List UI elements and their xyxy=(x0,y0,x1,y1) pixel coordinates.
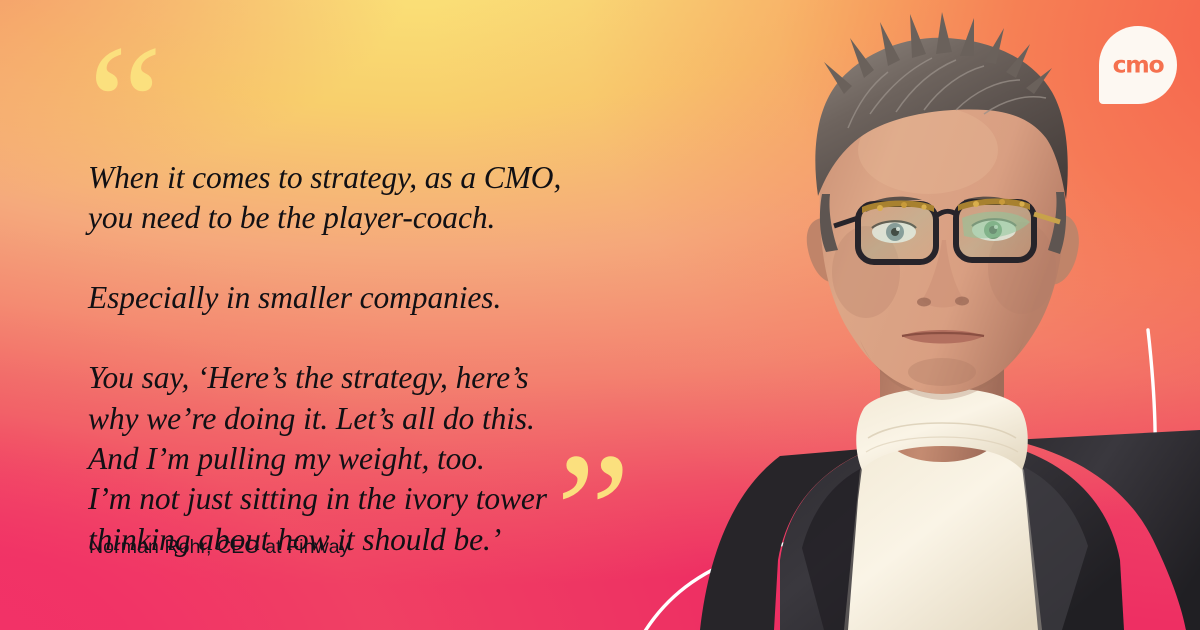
turtleneck-body xyxy=(844,438,1042,630)
chin-shadow xyxy=(908,358,976,386)
attribution: Norman Rohr, CEO at Finway xyxy=(89,536,350,559)
quote-paragraph-2: Especially in smaller companies. xyxy=(88,278,688,318)
opening-quote-mark: “ xyxy=(88,44,688,130)
cmo-logo[interactable]: cmo xyxy=(1099,26,1177,104)
logo-wordmark: cmo xyxy=(1099,50,1177,78)
quote-card: cmo “ When it comes to strategy, as a CM… xyxy=(0,0,1200,630)
closing-quote-mark: ” xyxy=(556,452,629,573)
nostril-left xyxy=(917,298,931,307)
quote-paragraph-1: When it comes to strategy, as a CMO, you… xyxy=(88,158,688,239)
nostril-right xyxy=(955,297,969,306)
